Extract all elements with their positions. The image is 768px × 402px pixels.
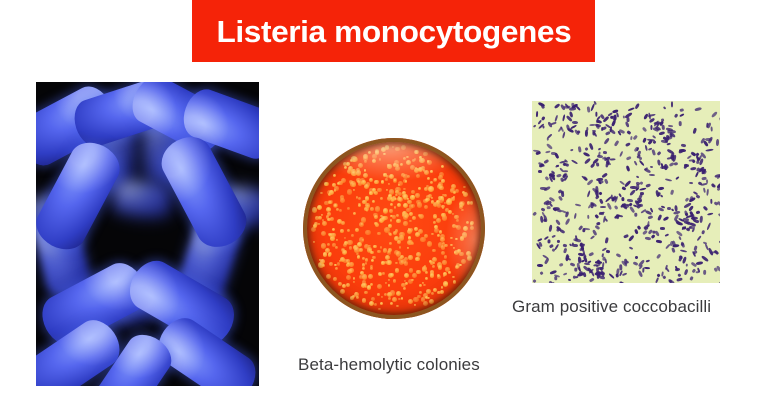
coccobacillus [603,137,610,145]
coccobacillus [653,127,659,132]
coccobacillus [575,203,581,207]
coccobacillus [605,237,609,243]
coccobacillus [639,160,646,167]
coccobacillus [648,113,656,117]
coccobacillus [546,143,553,150]
coccobacillus [561,131,565,139]
coccobacillus [533,149,540,152]
coccobacillus [604,179,608,185]
coccobacillus [599,198,603,204]
coccobacillus [662,216,669,222]
coccobacillus [595,221,600,225]
coccobacillus [544,186,551,192]
coccobacillus [610,158,616,161]
coccobacillus [618,151,623,158]
coccobacillus [560,229,566,234]
coccobacillus [547,239,550,243]
coccobacillus [691,159,696,164]
coccobacillus [644,145,648,152]
coccobacillus [650,124,652,129]
coccobacillus [537,264,543,267]
coccobacillus [663,106,667,110]
coccobacillus [710,127,712,132]
coccobacillus [619,281,623,283]
coccobacillus [602,216,606,223]
coccobacillus [718,282,720,283]
coccobacillus [644,267,650,270]
coccobacillus [668,162,674,167]
coccobacillus [533,280,537,283]
coccobacillus [555,219,561,226]
coccobacillus [568,279,572,282]
coccobacillus [588,278,594,283]
coccobacillus [642,137,647,143]
coccobacillus [644,237,651,241]
coccobacillus [696,194,701,198]
coccobacillus [622,197,625,201]
coccobacillus [615,214,619,219]
coccobacillus [547,133,552,138]
coccobacillus [557,240,560,243]
coccobacillus [622,115,625,119]
coccobacillus [588,252,593,257]
coccobacillus [616,253,622,258]
coccobacillus [679,121,682,126]
coccobacillus [559,262,564,267]
coccobacillus [674,113,679,118]
coccobacillus [582,175,587,180]
coccobacillus [629,247,633,251]
coccobacillus [608,273,615,280]
coccobacillus [570,262,575,267]
coccobacillus [651,234,656,239]
coccobacillus [714,249,720,255]
coccobacillus [696,210,701,214]
coccobacillus [624,142,630,147]
coccobacillus [624,121,630,128]
coccobacillus [679,109,683,112]
coccobacillus [543,215,548,222]
coccobacillus [667,142,671,145]
caption-beta-hemolytic-colonies: Beta-hemolytic colonies [298,355,480,375]
coccobacillus [620,264,623,270]
page-title: Listeria monocytogenes [216,16,571,47]
coccobacillus [655,239,661,243]
coccobacillus [685,263,688,266]
coccobacillus [614,140,619,146]
coccobacillus [607,162,611,165]
coccobacillus [630,186,637,189]
coccobacillus [554,115,558,122]
coccobacillus [711,111,718,118]
coccobacillus [701,255,709,262]
coccobacillus [585,130,588,137]
coccobacillus [639,188,647,192]
coccobacillus [627,117,630,122]
plate-rim [303,138,485,319]
coccobacillus [589,142,594,149]
coccobacillus [613,115,616,121]
coccobacillus [554,152,559,158]
coccobacillus [656,253,662,259]
coccobacillus [713,184,716,187]
coccobacillus [602,151,606,154]
coccobacillus [634,229,638,234]
coccobacillus [633,161,637,166]
coccobacillus [593,229,598,235]
coccobacillus [552,249,556,253]
coccobacillus [684,268,689,275]
coccobacillus [605,250,609,254]
coccobacillus [582,272,586,278]
coccobacillus [707,212,713,215]
coccobacillus [565,211,570,218]
coccobacillus [660,166,667,169]
coccobacillus [706,222,711,230]
caption-gram-positive-coccobacilli: Gram positive coccobacilli [512,297,711,317]
coccobacillus [647,216,652,220]
coccobacillus [683,256,688,264]
coccobacillus [658,214,663,220]
coccobacillus [565,217,571,225]
coccobacillus [668,279,675,283]
coccobacillus [562,272,567,276]
coccobacillus [706,188,709,195]
coccobacillus [549,225,553,233]
coccobacillus [552,234,556,238]
coccobacillus [587,214,589,218]
coccobacillus [693,127,698,133]
coccobacillus [628,107,635,111]
coccobacillus [690,276,694,280]
coccobacillus [678,273,682,277]
coccobacillus [627,199,633,203]
coccobacillus [716,139,719,146]
coccobacillus [672,155,677,162]
coccobacillus [634,212,637,216]
coccobacillus [598,181,603,185]
coccobacillus [597,162,600,166]
coccobacillus [638,150,642,155]
coccobacillus [587,191,591,199]
coccobacillus [602,173,608,179]
coccobacillus [689,181,693,184]
coccobacillus [658,187,664,191]
coccobacillus [637,193,643,201]
blood-agar-plate-figure [303,138,485,319]
coccobacillus [656,151,661,156]
coccobacillus [627,130,632,134]
coccobacillus [597,154,604,157]
coccobacillus [587,179,594,185]
coccobacillus [652,149,656,155]
coccobacillus [626,156,632,161]
coccobacillus [538,170,542,173]
coccobacillus [652,140,656,144]
coccobacillus [598,148,602,151]
coccobacillus [665,234,669,237]
coccobacillus [622,272,627,276]
coccobacillus [592,132,595,136]
coccobacillus [595,186,598,193]
coccobacillus [646,260,650,263]
coccobacillus [554,103,561,109]
coccobacillus [562,114,566,122]
coccobacillus [655,277,659,283]
coccobacillus [665,268,670,274]
title-banner: Listeria monocytogenes [192,0,595,62]
coccobacillus [696,262,703,266]
coccobacillus [703,206,709,212]
coccobacillus [678,149,684,154]
coccobacillus [658,131,664,135]
coccobacillus [681,143,687,147]
coccobacillus [633,135,638,141]
coccobacillus [624,234,629,238]
coccobacillus [718,213,720,219]
coccobacillus [719,150,720,157]
coccobacillus [684,220,690,224]
coccobacillus [660,226,665,229]
coccobacillus [645,183,650,187]
coccobacillus [571,159,578,164]
coccobacillus [670,102,672,108]
coccobacillus [640,181,644,185]
coccobacillus [575,238,581,242]
coccobacillus [670,190,674,195]
coccobacillus [700,215,703,222]
coccobacillus [533,211,538,216]
sem-bacteria-figure [36,82,259,386]
sem-bacteria-image [36,82,259,386]
coccobacillus [591,103,596,111]
coccobacillus [600,206,607,208]
coccobacillus [705,149,713,152]
coccobacillus [625,165,630,172]
coccobacillus [584,147,588,151]
coccobacillus [718,117,720,123]
coccobacillus [649,174,655,177]
coccobacillus [572,121,579,124]
gram-stain-image [532,101,720,283]
coccobacillus [615,273,619,278]
coccobacillus [683,164,689,167]
coccobacillus [719,240,720,245]
coccobacillus [578,146,581,152]
coccobacillus [565,254,569,261]
coccobacillus [665,179,672,183]
coccobacillus [672,247,676,253]
coccobacillus [642,127,648,133]
coccobacillus [544,159,550,164]
coccobacillus [545,150,551,153]
coccobacillus [533,125,537,129]
coccobacillus [607,202,612,210]
coccobacillus [535,111,538,117]
coccobacillus [614,205,619,210]
coccobacillus [656,160,660,166]
coccobacillus [663,275,667,279]
coccobacillus [703,270,706,275]
coccobacillus [674,176,679,180]
coccobacillus [695,107,702,111]
coccobacillus [628,234,634,241]
coccobacillus [696,235,701,241]
coccobacillus [569,149,573,152]
coccobacillus [595,111,597,116]
coccobacillus [679,249,686,253]
coccobacillus [676,278,682,282]
coccobacillus [539,271,543,275]
coccobacillus [629,206,635,213]
coccobacillus [675,267,680,271]
coccobacillus [681,241,686,247]
bacterium-cell [112,179,171,219]
coccobacillus [710,199,712,204]
coccobacillus [635,103,641,110]
gram-stain-figure [532,101,720,283]
coccobacillus [541,116,546,121]
coccobacillus [629,189,636,196]
coccobacillus [563,248,567,253]
coccobacillus [538,242,543,248]
coccobacillus [701,230,705,235]
coccobacillus [650,166,654,169]
coccobacillus [678,113,684,118]
coccobacillus [584,158,591,165]
coccobacillus [636,175,640,179]
coccobacillus [635,256,638,259]
coccobacillus [574,213,577,220]
coccobacillus [655,190,659,197]
